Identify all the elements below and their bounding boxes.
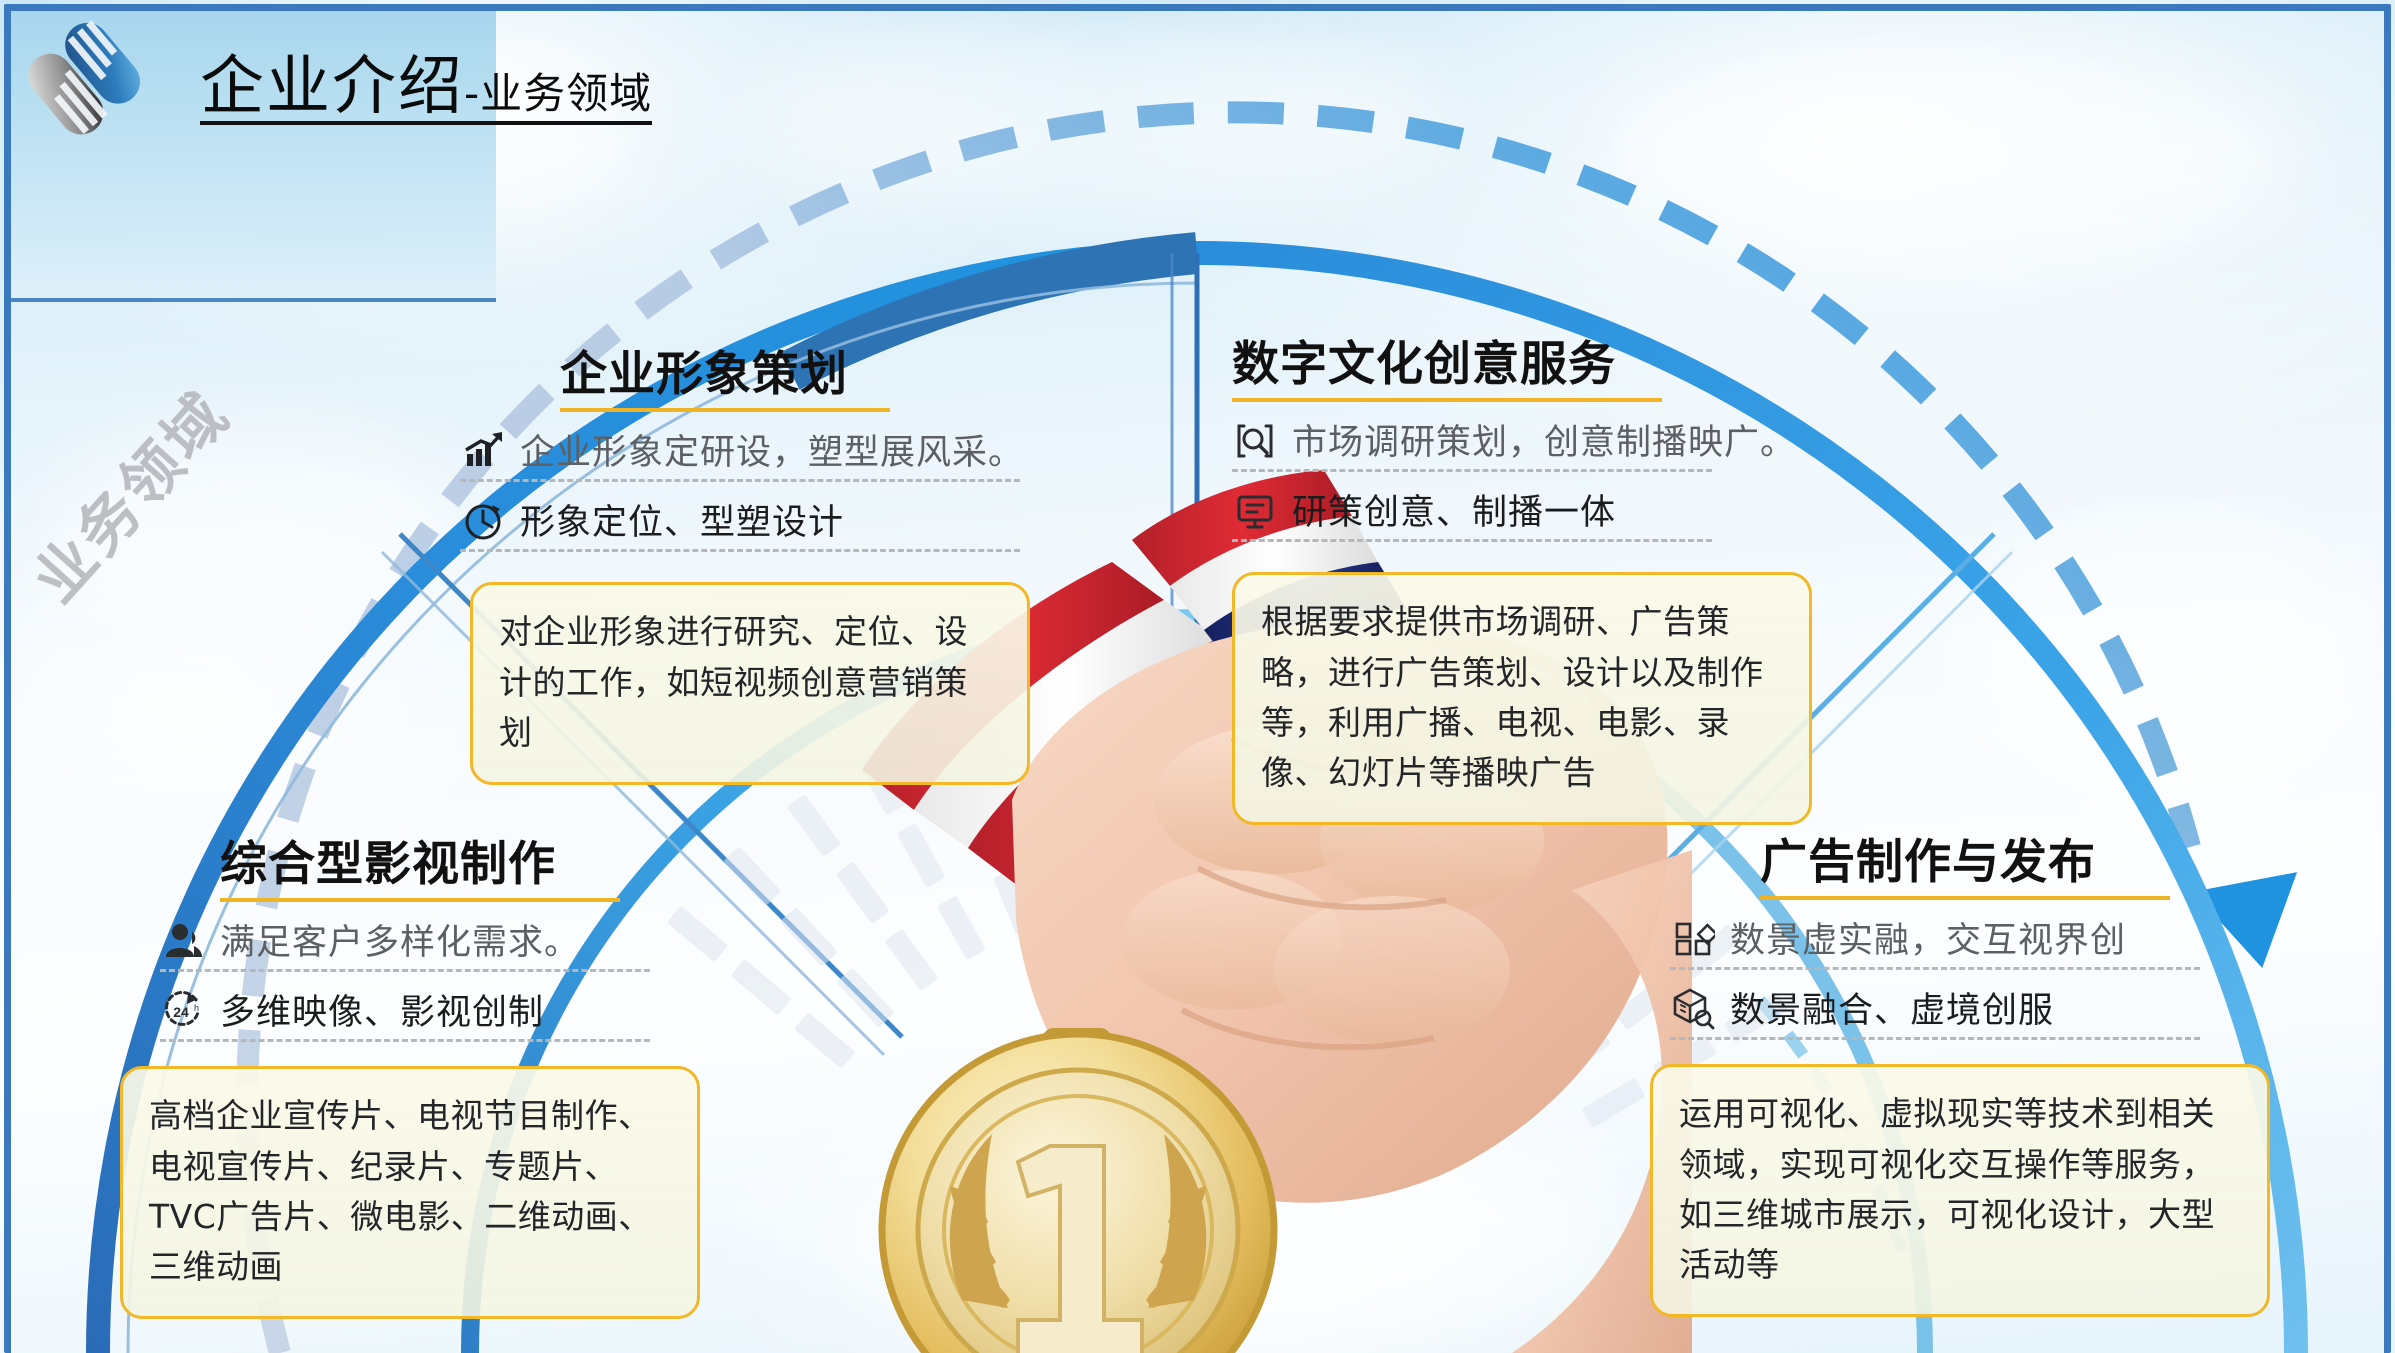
panel-ad-production-and-publishing: 广告制作与发布 数景虚实融，交互视界创 [1760, 838, 2200, 1317]
svg-text:h: h [194, 1003, 199, 1013]
bullet-text: 市场调研策划，创意制播映广。 [1292, 414, 1796, 465]
header-band-edge [11, 298, 496, 302]
panel-corporate-image-planning: 企业形象策划 企业形象定研设，塑型展风采。 [560, 350, 1020, 785]
panel-title-underline [220, 898, 620, 902]
bullet-divider [160, 969, 650, 972]
bullet-divider [160, 1039, 650, 1042]
bullet-text: 企业形象定研设，塑型展风采。 [520, 424, 1024, 475]
monitor-icon [1232, 487, 1278, 533]
bullet-text: 研策创意、制播一体 [1292, 484, 1616, 535]
cloud-blotch [1950, 520, 2380, 800]
panel-bullets: 市场调研策划，创意制播映广。 研策创意、制播一体 [1232, 414, 1712, 542]
bullet-text: 多维映像、影视创制 [220, 984, 544, 1035]
bullet-text: 满足客户多样化需求。 [220, 914, 580, 965]
bullet-row[interactable]: 研策创意、制播一体 [1232, 484, 1712, 535]
bullet-divider [1670, 1037, 2200, 1040]
panel-bullets: 企业形象定研设，塑型展风采。 形象定位、型塑设计 [460, 424, 1020, 552]
box-inspect-icon [1670, 985, 1716, 1031]
slide-canvas: 企业介绍-业务领域 业务领域 企业形象策划 企业形象定研设，塑型展风采。 [0, 0, 2395, 1353]
panel-title-underline [1232, 398, 1662, 402]
bullet-divider [1232, 539, 1712, 542]
page-title-sub: -业务领域 [464, 69, 652, 118]
bullet-text: 数景融合、虚境创服 [1730, 982, 2054, 1033]
panel-description: 运用可视化、虚拟现实等技术到相关领域，实现可视化交互操作等服务，如三维城市展示，… [1650, 1064, 2270, 1317]
bullet-text: 形象定位、型塑设计 [520, 494, 844, 545]
person-icon [160, 917, 206, 963]
panel-title: 企业形象策划 [560, 350, 1020, 399]
bullet-row[interactable]: 24 h 多维映像、影视创制 [160, 984, 650, 1035]
panel-title-underline [560, 408, 890, 412]
company-logo [22, 18, 148, 138]
panel-description: 根据要求提供市场调研、广告策略，进行广告策划、设计以及制作等，利用广播、电视、电… [1232, 572, 1812, 825]
panel-title: 数字文化创意服务 [1232, 340, 1712, 389]
panel-bullets: 满足客户多样化需求。 24 h 多维映像、影视创制 [160, 914, 650, 1042]
shapes-grid-icon [1670, 915, 1716, 961]
panel-bullets: 数景虚实融，交互视界创 数景融合、虚境创服 [1670, 912, 2200, 1040]
bullet-divider [460, 479, 1020, 482]
growth-chart-icon [460, 427, 506, 473]
bullet-row[interactable]: 市场调研策划，创意制播映广。 [1232, 414, 1712, 465]
panel-title-underline [1760, 896, 2170, 900]
24h-service-icon: 24 h [160, 987, 206, 1033]
cloud-blotch [1600, 40, 2300, 270]
panel-integrated-film-tv-production: 综合型影视制作 满足客户多样化需求。 [220, 840, 650, 1319]
panel-description: 对企业形象进行研究、定位、设计的工作，如短视频创意营销策划 [470, 582, 1030, 784]
bullet-row[interactable]: 形象定位、型塑设计 [460, 494, 1020, 545]
bullet-row[interactable]: 数景融合、虚境创服 [1670, 982, 2200, 1033]
svg-text:24: 24 [173, 1004, 189, 1020]
panel-title: 综合型影视制作 [220, 840, 650, 889]
bullet-row[interactable]: 企业形象定研设，塑型展风采。 [460, 424, 1020, 475]
clock-icon [460, 497, 506, 543]
bullet-row[interactable]: 满足客户多样化需求。 [160, 914, 650, 965]
panel-title: 广告制作与发布 [1760, 838, 2200, 887]
bullet-divider [1232, 469, 1712, 472]
section-watermark: 业务领域 [10, 370, 246, 618]
cloud-blotch [760, 20, 1440, 220]
search-scope-icon [1232, 417, 1278, 463]
page-title: 企业介绍-业务领域 [200, 35, 652, 125]
panel-digital-culture-creative-service: 数字文化创意服务 市场调研策划，创意制播映广。 [1232, 340, 1712, 825]
panel-description: 高档企业宣传片、电视节目制作、电视宣传片、纪录片、专题片、TVC广告片、微电影、… [120, 1066, 700, 1319]
bullet-divider [1670, 967, 2200, 970]
bullet-row[interactable]: 数景虚实融，交互视界创 [1670, 912, 2200, 963]
bullet-divider [460, 549, 1020, 552]
bullet-text: 数景虚实融，交互视界创 [1730, 912, 2126, 963]
page-title-main: 企业介绍 [200, 50, 464, 124]
